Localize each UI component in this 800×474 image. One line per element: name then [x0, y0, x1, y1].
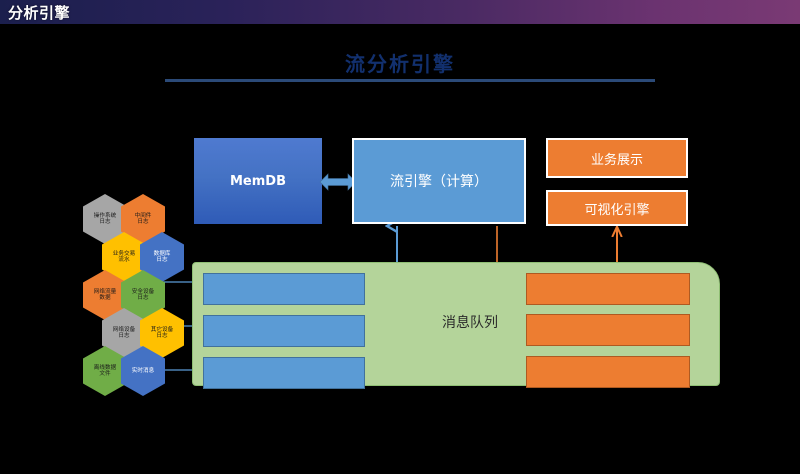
hex-line: 文件	[94, 371, 116, 377]
window-header-bar: 分析引擎	[0, 0, 800, 24]
diagram-title: 流分析引擎	[0, 48, 800, 77]
mq-input-bar[interactable]	[203, 357, 365, 389]
mq-input-bar[interactable]	[203, 273, 365, 305]
hex-line: 日志	[151, 333, 173, 339]
stream-engine-box[interactable]: 流引擎（计算）	[352, 138, 526, 224]
business-display-label: 业务展示	[591, 149, 643, 168]
memdb-label: MemDB	[230, 174, 286, 189]
stream-engine-label: 流引擎（计算）	[390, 171, 488, 191]
hex-line: 日志	[154, 257, 171, 263]
slide-body: 流分析引擎	[0, 24, 800, 450]
mq-output-bar[interactable]	[526, 356, 690, 388]
business-display-box[interactable]: 业务展示	[546, 138, 688, 178]
page-title: 分析引擎	[8, 2, 70, 23]
hex-line: 日志	[135, 219, 152, 225]
hex-line: 实时消息	[132, 368, 154, 374]
message-queue-label: 消息队列	[415, 312, 525, 332]
hex-line: 日志	[132, 295, 154, 301]
hex-line: 数据	[94, 295, 116, 301]
mq-input-bar[interactable]	[203, 315, 365, 347]
mq-output-bar[interactable]	[526, 273, 690, 305]
visualization-engine-label: 可视化引擎	[584, 199, 649, 218]
hex-line: 日志	[113, 333, 135, 339]
visualization-engine-box[interactable]: 可视化引擎	[546, 190, 688, 226]
title-underline-divider	[165, 79, 655, 82]
memdb-box[interactable]: MemDB	[194, 138, 322, 224]
slide-canvas: 分析引擎 流分析引擎	[0, 0, 800, 450]
hex-line: 日志	[94, 219, 116, 225]
mq-output-bar[interactable]	[526, 314, 690, 346]
hex-line: 流水	[113, 257, 135, 263]
